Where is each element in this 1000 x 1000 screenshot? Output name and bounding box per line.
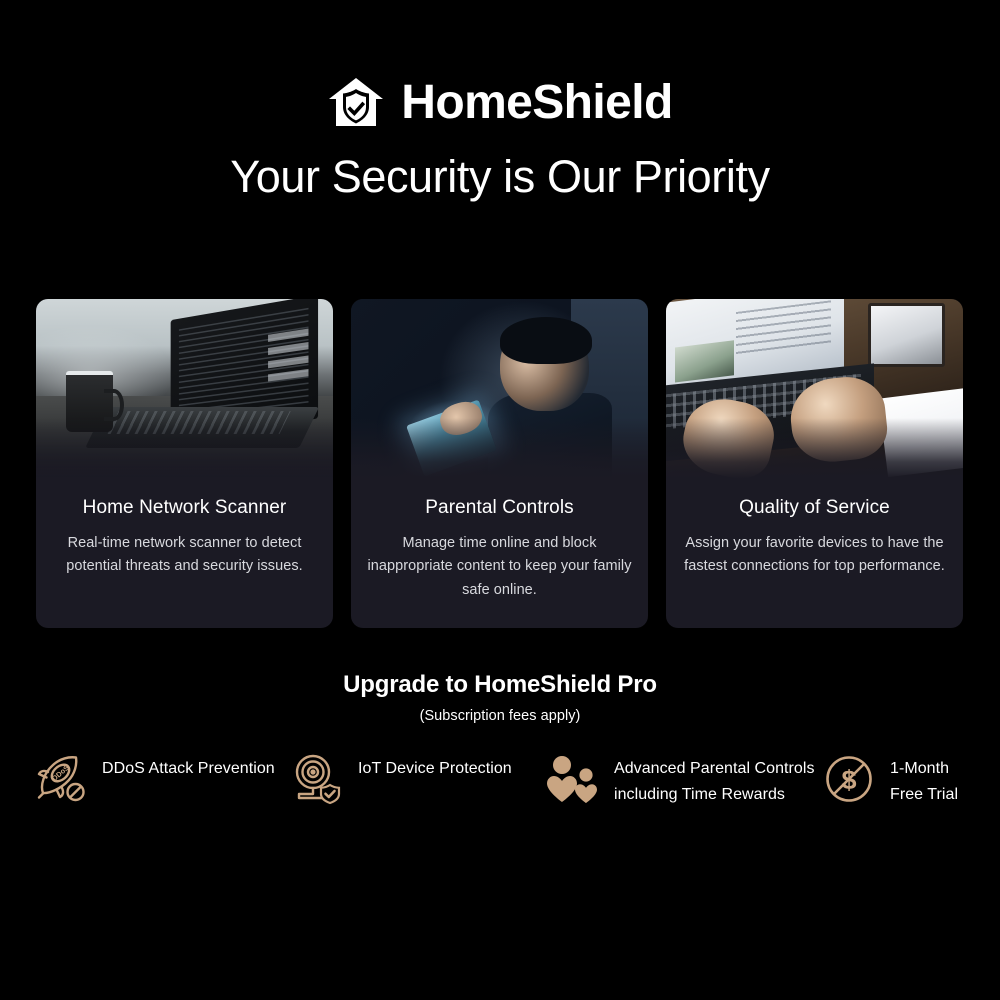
perk-one-month-free-trial: $ 1-Month Free Trial [822,752,980,808]
card-body: Parental Controls Manage time online and… [351,479,648,628]
card-description: Real-time network scanner to detect pote… [52,532,317,579]
brand-row: HomeShield [0,72,1000,134]
perk-ddos-attack-prevention: DDoS DDoS Attack Prevention [34,752,290,806]
perk-label: DDoS Attack Prevention [102,752,275,782]
pro-upgrade-title: Upgrade to HomeShield Pro [0,671,1000,699]
card-body: Home Network Scanner Real-time network s… [36,479,333,605]
dollar-no-cost-icon: $ [822,752,876,806]
home-shield-icon [327,76,385,130]
card-body: Quality of Service Assign your favorite … [666,479,963,605]
pro-perk-list: DDoS DDoS Attack Prevention [34,752,980,808]
ddos-rocket-blocked-icon: DDoS [34,752,88,806]
perk-label: IoT Device Protection [358,752,512,782]
perk-iot-device-protection: IoT Device Protection [290,752,546,806]
pro-subscription-note: (Subscription fees apply) [0,708,1000,724]
perk-label: 1-Month Free Trial [890,752,980,808]
card-title: Parental Controls [367,497,632,519]
brand-name: HomeShield [401,79,672,127]
feature-card-parental-controls[interactable]: Parental Controls Manage time online and… [351,299,648,628]
feature-card-home-network-scanner[interactable]: Home Network Scanner Real-time network s… [36,299,333,628]
pro-upgrade-section: Upgrade to HomeShield Pro (Subscription … [0,671,1000,724]
card-description: Assign your favorite devices to have the… [682,532,947,579]
feature-card-list: Home Network Scanner Real-time network s… [36,299,964,628]
card-title: Home Network Scanner [52,497,317,519]
homeshield-promo-page: HomeShield Your Security is Our Priority… [0,0,1000,1000]
page-tagline: Your Security is Our Priority [0,152,1000,202]
laptop-on-desk-photo [36,299,333,479]
iot-camera-shield-icon [290,752,344,806]
svg-text:$: $ [841,765,856,795]
perk-label: Advanced Parental Controls including Tim… [614,752,822,808]
page-header: HomeShield Your Security is Our Priority [0,0,1000,202]
parent-child-hearts-icon [546,752,600,806]
child-using-tablet-photo [351,299,648,479]
perk-advanced-parental-controls: Advanced Parental Controls including Tim… [546,752,822,808]
hands-typing-on-laptop-photo [666,299,963,479]
feature-card-quality-of-service[interactable]: Quality of Service Assign your favorite … [666,299,963,628]
card-description: Manage time online and block inappropria… [367,532,632,602]
card-title: Quality of Service [682,497,947,519]
